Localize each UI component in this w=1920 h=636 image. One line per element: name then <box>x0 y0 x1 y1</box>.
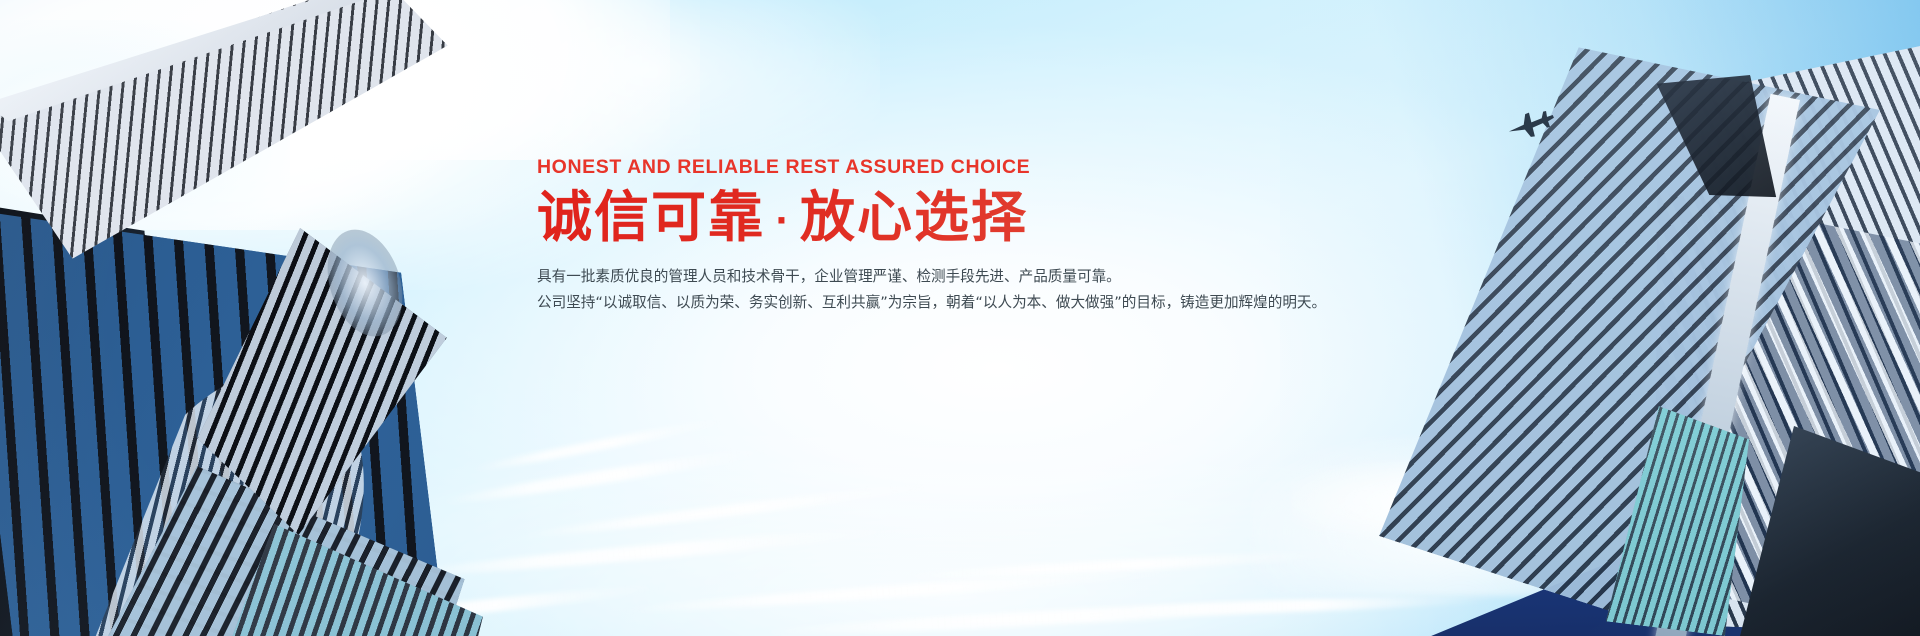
headline-separator: · <box>765 201 800 241</box>
hero-eyebrow: HONEST AND RELIABLE REST ASSURED CHOICE <box>537 156 1357 179</box>
right-building <box>1560 40 1920 636</box>
left-building <box>0 78 470 636</box>
hero-body-line-2: 公司坚持“以诚取信、以质为荣、务实创新、互利共赢”为宗旨，朝着“以人为本、做大做… <box>537 290 1357 316</box>
hero-body-line-1: 具有一批素质优良的管理人员和技术骨干，企业管理严谨、检测手段先进、产品质量可靠。 <box>537 264 1357 290</box>
hero-body-text: 具有一批素质优良的管理人员和技术骨干，企业管理严谨、检测手段先进、产品质量可靠。… <box>537 264 1357 316</box>
headline-left-phrase: 诚信可靠 <box>537 185 765 249</box>
hero-headline: 诚信可靠·放心选择 <box>537 188 1357 247</box>
hero-copy: HONEST AND RELIABLE REST ASSURED CHOICE … <box>537 156 1357 316</box>
headline-right-phrase: 放心选择 <box>800 185 1028 249</box>
hero-banner: HONEST AND RELIABLE REST ASSURED CHOICE … <box>0 0 1920 636</box>
